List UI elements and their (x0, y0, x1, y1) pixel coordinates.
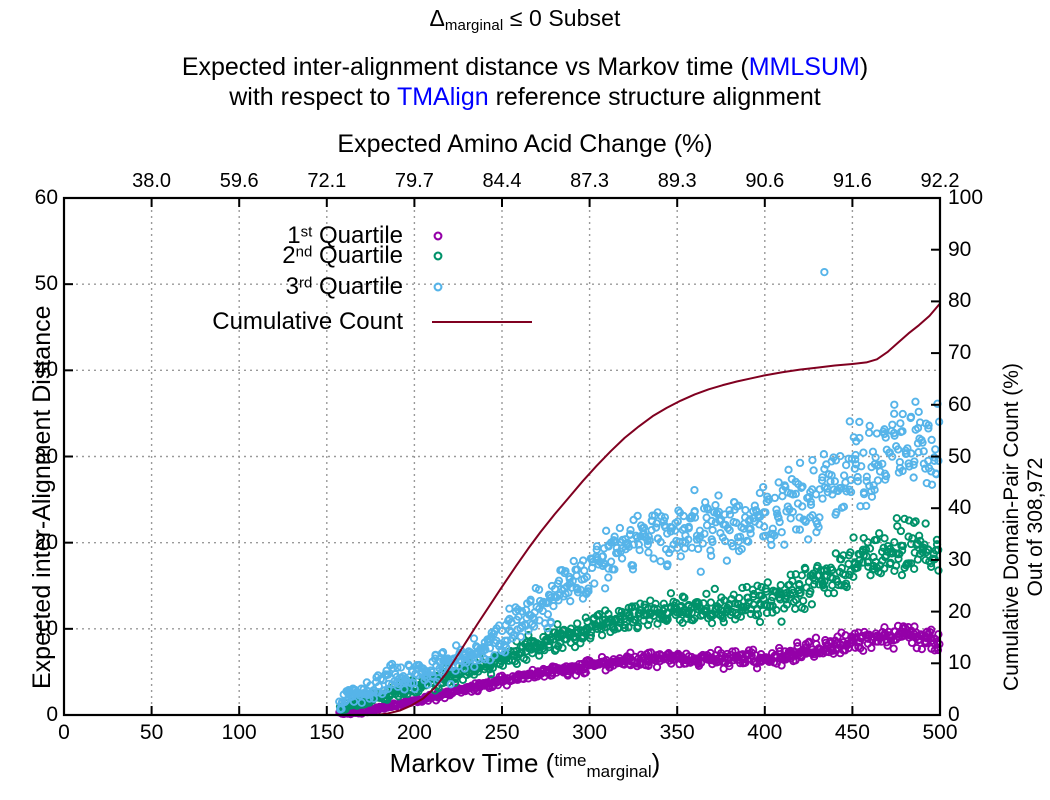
data-point (715, 492, 721, 498)
legend-label-2[interactable]: 2nd Quartile (282, 242, 403, 270)
top-axis-tick-label: 91.6 (833, 170, 872, 193)
data-point (765, 579, 771, 585)
data-point (742, 507, 748, 513)
data-point (545, 611, 551, 617)
top-axis-tick-label: 59.6 (220, 170, 259, 193)
x-tick-label: 250 (484, 721, 519, 745)
y-tick-label: 40 (35, 358, 58, 382)
y2-tick-label: 30 (948, 548, 971, 572)
data-point (678, 553, 684, 559)
y-tick-label: 20 (35, 531, 58, 555)
legend-key-3 (432, 275, 542, 299)
data-point (599, 632, 605, 638)
data-point (832, 478, 838, 484)
data-point (471, 635, 477, 641)
data-point (698, 569, 704, 575)
y-tick-label: 0 (46, 703, 58, 727)
x-tick-label: 50 (140, 721, 163, 745)
data-point (932, 446, 938, 452)
legend-marker-icon (435, 284, 442, 291)
legend-marker-icon (435, 253, 442, 260)
data-point (605, 574, 611, 580)
data-point (603, 528, 609, 534)
data-point (810, 467, 816, 473)
top-axis-tick-label: 89.3 (658, 170, 697, 193)
data-point (894, 515, 900, 521)
data-point (900, 411, 906, 417)
data-point (608, 558, 614, 564)
top-axis-tick-label: 90.6 (745, 170, 784, 193)
data-point (567, 598, 573, 604)
data-point (881, 535, 887, 541)
data-point (724, 557, 730, 563)
data-point (797, 460, 803, 466)
legend-label-4[interactable]: Cumulative Count (212, 308, 403, 336)
y2-tick-label: 60 (948, 393, 971, 417)
data-point (891, 411, 897, 417)
data-point (809, 457, 815, 463)
data-point (550, 603, 556, 609)
data-point (778, 618, 784, 624)
scatter-series-group (336, 399, 943, 718)
data-point (691, 487, 697, 493)
data-point (843, 462, 849, 468)
data-point (778, 582, 784, 588)
data-point (912, 399, 918, 405)
data-point (872, 454, 878, 460)
outlier-point (821, 269, 827, 275)
data-point (785, 467, 791, 473)
data-point (876, 530, 882, 536)
scatter-series-2 (337, 515, 942, 713)
data-point (788, 515, 794, 521)
data-point (850, 534, 856, 540)
legend-label-3[interactable]: 3rd Quartile (286, 273, 403, 301)
top-axis-tick-label: 79.7 (395, 170, 434, 193)
legend-marker-icon (435, 233, 442, 240)
data-point (518, 634, 524, 640)
data-point (634, 513, 640, 519)
y2-tick-label: 70 (948, 341, 971, 365)
y2-tick-label: 40 (948, 496, 971, 520)
y2-tick-label: 20 (948, 600, 971, 624)
data-point (874, 430, 880, 436)
data-point (703, 591, 709, 597)
data-point (867, 423, 873, 429)
data-point (650, 555, 656, 561)
data-point (898, 528, 904, 534)
data-point (591, 580, 597, 586)
data-point (602, 585, 608, 591)
legend-key-2 (432, 244, 542, 268)
data-point (856, 419, 862, 425)
x-tick-label: 350 (660, 721, 695, 745)
top-axis-tick-label: 92.2 (921, 170, 960, 193)
data-point (757, 619, 763, 625)
data-point (709, 620, 715, 626)
data-point (809, 601, 815, 607)
data-point (574, 620, 580, 626)
data-point (805, 536, 811, 542)
data-point (911, 566, 917, 572)
data-point (792, 606, 798, 612)
data-point (821, 451, 827, 457)
x-tick-label: 400 (747, 721, 782, 745)
data-point (916, 409, 922, 415)
data-point (897, 420, 903, 426)
top-axis-tick-label: 72.1 (307, 170, 346, 193)
data-point (554, 621, 560, 627)
data-point (866, 430, 872, 436)
legend-key-4 (432, 310, 542, 334)
x-tick-label: 150 (309, 721, 344, 745)
y2-tick-label: 50 (948, 445, 971, 469)
data-point (860, 449, 866, 455)
data-point (645, 549, 651, 555)
data-point (617, 525, 623, 531)
data-point (709, 527, 715, 533)
data-point (910, 474, 916, 480)
y2-tick-label: 0 (948, 703, 960, 727)
plot-canvas (0, 0, 1050, 800)
data-point (712, 502, 718, 508)
top-axis-tick-label: 38.0 (132, 170, 171, 193)
y2-tick-label: 80 (948, 289, 971, 313)
data-point (819, 495, 825, 501)
x-tick-label: 0 (58, 721, 70, 745)
data-point (800, 598, 806, 604)
data-point (619, 555, 625, 561)
y2-tick-label: 90 (948, 238, 971, 262)
data-point (890, 645, 896, 651)
top-axis-tick-label: 84.4 (483, 170, 522, 193)
data-point (700, 540, 706, 546)
x-tick-label: 200 (397, 721, 432, 745)
x-tick-label: 450 (835, 721, 870, 745)
y-tick-label: 50 (35, 272, 58, 296)
data-point (668, 590, 674, 596)
top-axis-tick-label: 87.3 (570, 170, 609, 193)
data-point (841, 472, 847, 478)
data-point (891, 402, 897, 408)
x-tick-label: 100 (222, 721, 257, 745)
y-tick-label: 30 (35, 445, 58, 469)
y-tick-label: 60 (35, 186, 58, 210)
y2-tick-label: 10 (948, 651, 971, 675)
data-point (571, 558, 577, 564)
data-point (922, 520, 928, 526)
data-point (779, 529, 785, 535)
outlier-group (821, 269, 827, 275)
x-tick-label: 300 (572, 721, 607, 745)
data-point (712, 586, 718, 592)
data-point (875, 477, 881, 483)
chart-figure: Δmarginal ≤ 0 Subset Expected inter-alig… (0, 0, 1050, 800)
y-tick-label: 10 (35, 617, 58, 641)
data-point (657, 558, 663, 564)
data-point (837, 453, 843, 459)
data-point (899, 572, 905, 578)
data-point (928, 437, 934, 443)
